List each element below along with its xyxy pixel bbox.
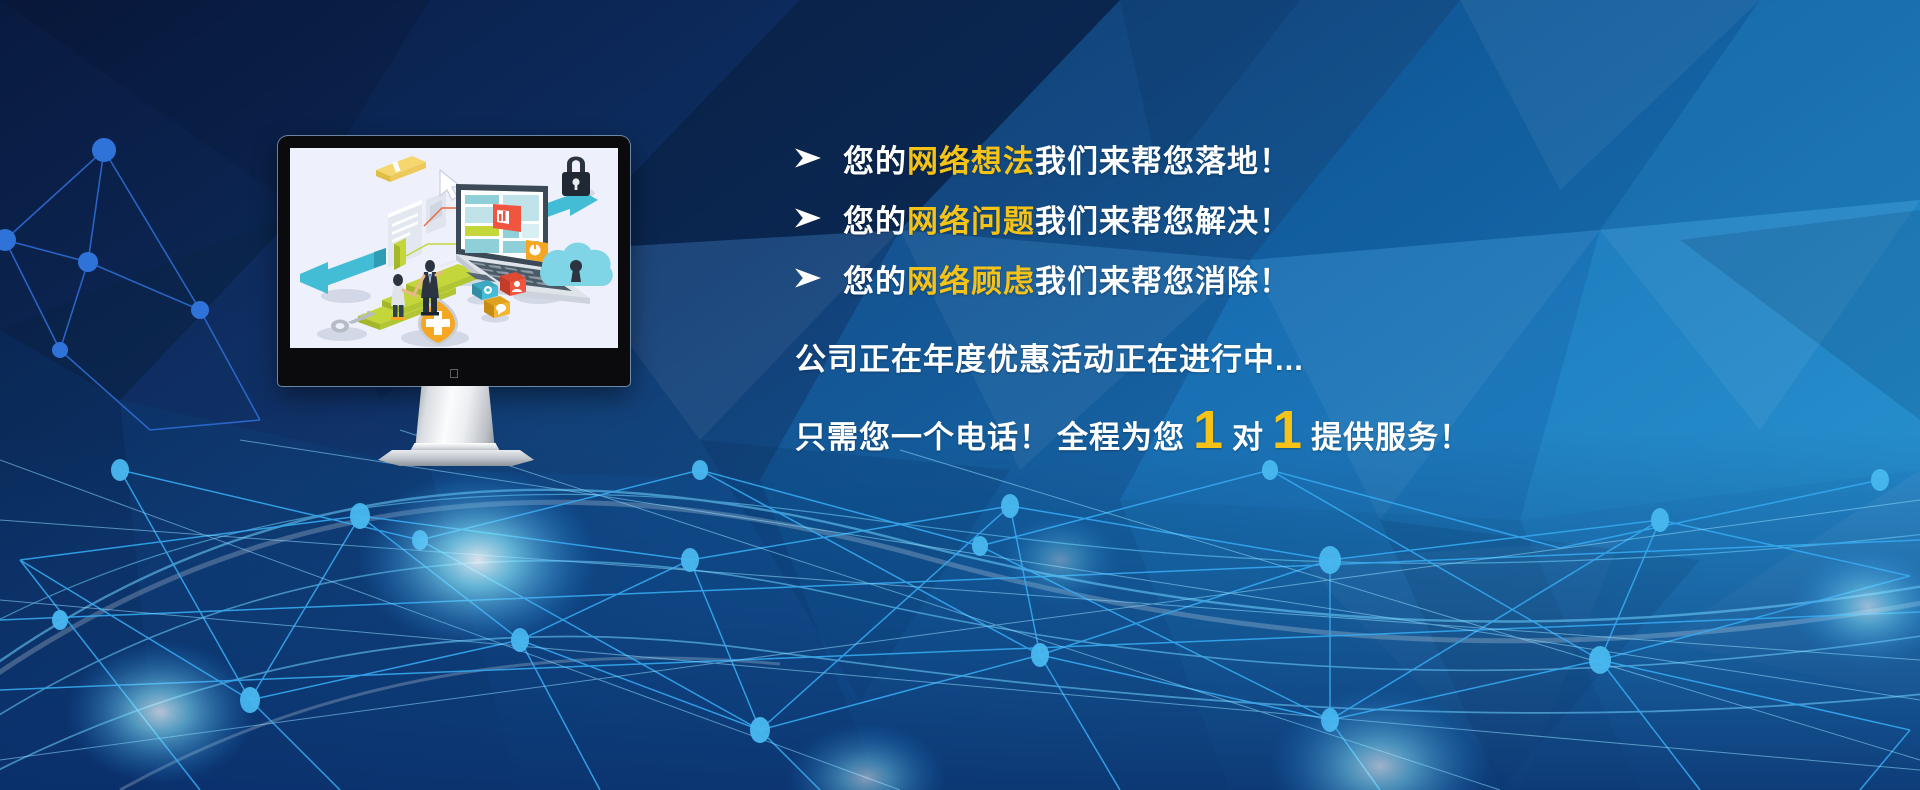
- bullet-1-pre: 您的: [843, 144, 907, 179]
- bullet-text-2: 您的网络问题我们来帮您解决！: [843, 196, 1291, 241]
- call-to-action-line: 只需您一个电话！ 全程为您 1 对 1 提供服务！: [795, 409, 1555, 457]
- cta-part-3: 提供服务！: [1311, 412, 1471, 457]
- bullet-1-post: 我们来帮您落地！: [1035, 144, 1291, 179]
- imac-monitor: : [278, 136, 630, 386]
- bullet-text-3: 您的网络顾虑我们来帮您消除！: [843, 256, 1291, 301]
- isometric-network-security-illustration: [290, 148, 618, 348]
- bullet-3-post: 我们来帮您消除！: [1035, 264, 1291, 299]
- bullet-2-highlight: 网络问题: [907, 204, 1035, 239]
- cta-part-1: 只需您一个电话！: [795, 412, 1051, 457]
- monitor-stand-base: [378, 450, 534, 466]
- bullet-item-1: 您的网络想法我们来帮您落地！: [795, 128, 1555, 188]
- bullet-3-pre: 您的: [843, 264, 907, 299]
- bullet-3-highlight: 网络顾虑: [907, 264, 1035, 299]
- monitor-screen: [290, 148, 618, 348]
- arrow-right-icon: [795, 267, 821, 289]
- promo-banner:  您的网络想法我们来帮您落地！ 您的网络问题我们来帮您解决！ 您的网络顾虑我们…: [0, 0, 1920, 790]
- bullet-2-pre: 您的: [843, 204, 907, 239]
- cta-part-2: 全程为您: [1057, 412, 1185, 457]
- monitor-stand-neck: [415, 386, 495, 450]
- apple-logo-icon: : [278, 367, 630, 380]
- promo-line: 公司正在年度优惠活动正在进行中...: [795, 334, 1555, 379]
- cta-number-one-a: 1: [1185, 409, 1232, 452]
- marketing-copy: 您的网络想法我们来帮您落地！ 您的网络问题我们来帮您解决！ 您的网络顾虑我们来帮…: [795, 128, 1555, 457]
- cta-number-one-b: 1: [1264, 409, 1311, 452]
- cta-mid: 对: [1232, 412, 1264, 457]
- arrow-right-icon: [795, 207, 821, 229]
- bullet-2-post: 我们来帮您解决！: [1035, 204, 1291, 239]
- bullet-1-highlight: 网络想法: [907, 144, 1035, 179]
- bullet-item-2: 您的网络问题我们来帮您解决！: [795, 188, 1555, 248]
- bullet-text-1: 您的网络想法我们来帮您落地！: [843, 136, 1291, 181]
- arrow-right-icon: [795, 147, 821, 169]
- bullet-item-3: 您的网络顾虑我们来帮您消除！: [795, 248, 1555, 308]
